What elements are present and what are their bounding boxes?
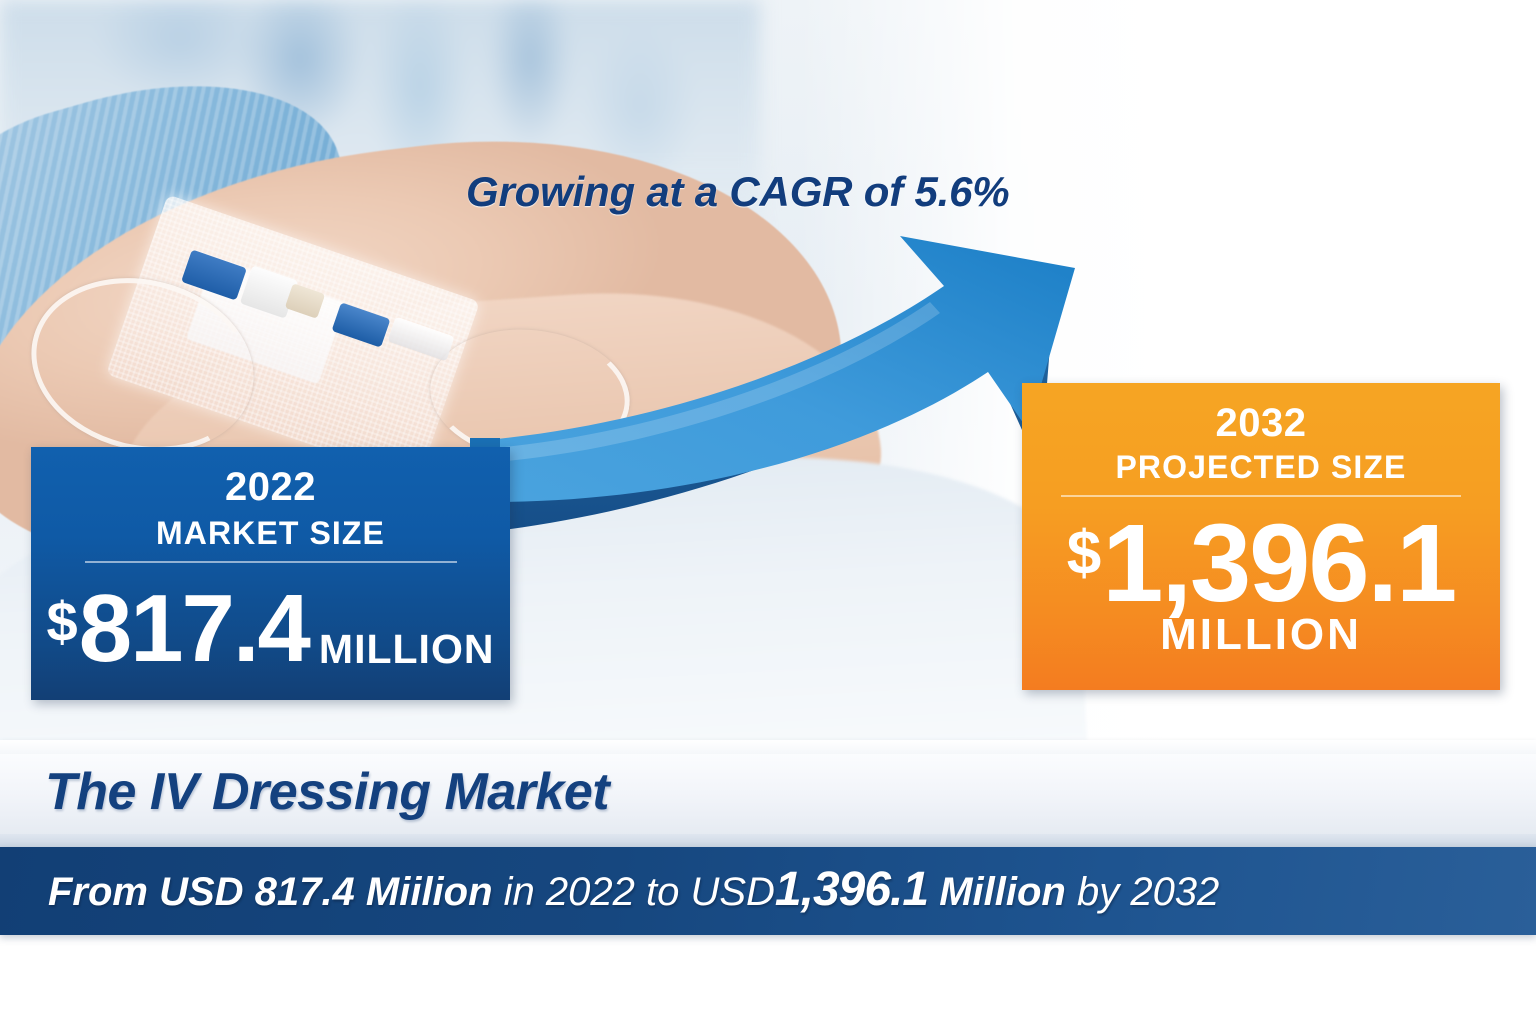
stat-number-2022: 817.4 bbox=[79, 585, 309, 673]
currency-symbol: $ bbox=[47, 596, 78, 648]
summary-text: From USD 817.4 Miilion in 2022 to USD1,3… bbox=[48, 862, 1219, 917]
stat-divider bbox=[85, 561, 457, 563]
stat-card-2022-market-size: 2022 MARKET SIZE $ 817.4 MILLION bbox=[31, 447, 510, 700]
stat-label-market-size: MARKET SIZE bbox=[31, 516, 510, 551]
stat-year-2032: 2032 bbox=[1022, 403, 1500, 443]
stat-unit-2022: MILLION bbox=[319, 631, 495, 669]
cagr-annotation: Growing at a CAGR of 5.6% bbox=[466, 168, 1009, 216]
infographic-canvas: Growing at a CAGR of 5.6% 2022 MARKET SI… bbox=[0, 0, 1536, 1024]
stat-number-2032: 1,396.1 bbox=[1102, 513, 1455, 614]
summary-part-by-2032: by 2032 bbox=[1066, 870, 1219, 914]
stat-value-2032: $ 1,396.1 bbox=[1022, 513, 1500, 614]
summary-part-from: From USD 817.4 Miilion bbox=[48, 870, 493, 914]
stat-label-projected-size: PROJECTED SIZE bbox=[1022, 450, 1500, 485]
stat-card-2032-projected-size: 2032 PROJECTED SIZE $ 1,396.1 MILLION bbox=[1022, 383, 1500, 690]
page-title: The IV Dressing Market bbox=[45, 762, 609, 822]
currency-symbol: $ bbox=[1067, 525, 1101, 582]
summary-part-million: Million bbox=[928, 870, 1066, 914]
stat-divider bbox=[1061, 495, 1461, 497]
stat-value-2022: $ 817.4 MILLION bbox=[31, 585, 510, 673]
summary-part-in-2022: in 2022 to USD bbox=[493, 870, 775, 914]
summary-part-value-2032: 1,396.1 bbox=[775, 863, 928, 916]
stat-year-2022: 2022 bbox=[31, 467, 510, 507]
